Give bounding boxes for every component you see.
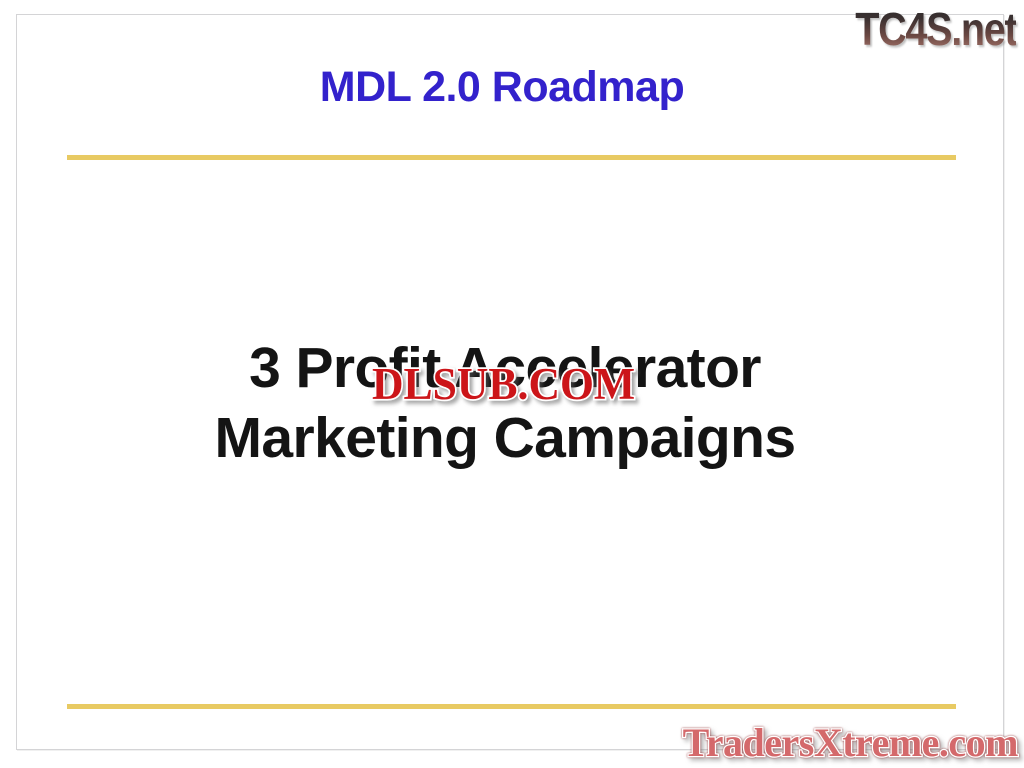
divider-rule-bottom bbox=[67, 704, 956, 709]
watermark-tradersxtreme: TradersXtreme.com bbox=[683, 719, 1018, 766]
watermark-dlsub: DLSUB.COM bbox=[372, 358, 635, 410]
watermark-tc4s: TC4S.net bbox=[855, 2, 1016, 56]
divider-rule-top bbox=[67, 155, 956, 160]
body-line-2: Marketing Campaigns bbox=[0, 404, 1010, 474]
slide-canvas: MDL 2.0 Roadmap 3 Profit Accelerator Mar… bbox=[0, 0, 1024, 768]
page-title: MDL 2.0 Roadmap bbox=[0, 64, 1004, 111]
